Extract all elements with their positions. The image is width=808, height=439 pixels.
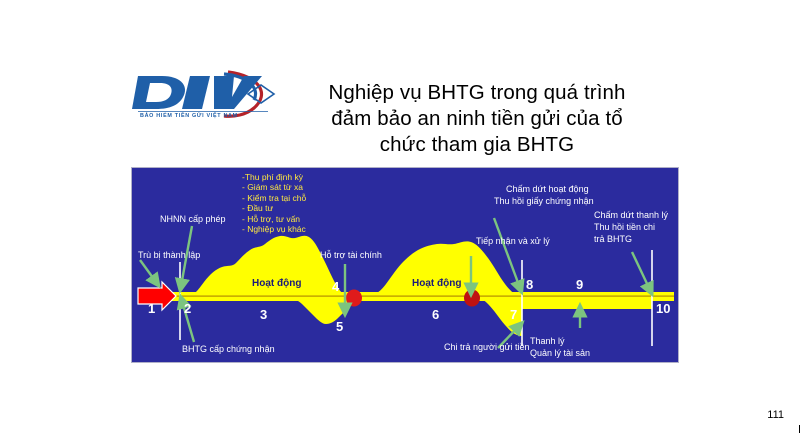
slide-title: Nghiệp vụ BHTG trong quá trình đảm bảo a…	[272, 80, 682, 158]
event-marker-7	[464, 290, 480, 307]
arrow-tru-bi	[140, 260, 156, 282]
slide-title-line-2: đảm bảo an ninh tiền gửi của tổ	[272, 106, 682, 132]
phase-label-hoat-dong-2: Hoạt động	[412, 278, 461, 289]
label-tra-bhtg: trả BHTG	[594, 234, 632, 245]
bullet-item-5: - Hỗ trợ, tư vấn	[242, 214, 306, 224]
footer-tick-mark	[799, 425, 800, 433]
process-diagram: -Thu phí định kỳ - Giám sát từ xa - Kiểm…	[131, 167, 679, 363]
div-logo-svg: BẢO HIỂM TIỀN GỬI VIỆT NAM	[128, 68, 280, 120]
bullet-item-3: - Kiểm tra tại chỗ	[242, 193, 306, 203]
diagram-graphics	[132, 168, 678, 362]
step-number-10: 10	[656, 302, 670, 315]
page-number: 111	[767, 409, 784, 421]
bullet-item-4: - Đầu tư	[242, 203, 306, 213]
step-number-3: 3	[260, 308, 267, 321]
step-number-7: 7	[510, 308, 517, 321]
timeline-centerline	[168, 296, 674, 297]
label-cham-dut-hoat-dong: Chấm dứt hoạt động	[506, 184, 589, 195]
label-quan-ly-tai-san: Quản lý tài sản	[530, 348, 590, 359]
label-tru-bi-thanh-lap: Trù bị thành lập	[138, 250, 200, 261]
label-nhnn-cap-phep: NHNN cấp phép	[160, 214, 226, 225]
step-number-1: 1	[148, 302, 155, 315]
liquidation-band	[522, 301, 652, 309]
label-chi-tra-nguoi-gui-tien: Chi trả người gửi tiền	[444, 342, 530, 353]
div-logo: BẢO HIỂM TIỀN GỬI VIỆT NAM	[128, 68, 280, 120]
arrow-cham-dut-tl	[632, 252, 650, 290]
phase-label-hoat-dong-1: Hoạt động	[252, 278, 301, 289]
bullet-item-2: - Giám sát từ xa	[242, 182, 306, 192]
logo-tagline: BẢO HIỂM TIỀN GỬI VIỆT NAM	[140, 111, 238, 119]
label-tiep-nhan-va-xu-ly: Tiếp nhận và xử lý	[476, 236, 550, 247]
label-bhtg-cap-chung-nhan: BHTG cấp chứng nhận	[182, 344, 275, 355]
diagram-canvas: -Thu phí định kỳ - Giám sát từ xa - Kiểm…	[132, 168, 678, 362]
step-number-2: 2	[184, 302, 191, 315]
step-number-5: 5	[336, 320, 343, 333]
step-number-6: 6	[432, 308, 439, 321]
logo-letter-i	[182, 76, 210, 109]
step-number-4: 4	[332, 280, 339, 293]
event-marker-4	[346, 290, 362, 307]
slide-title-line-3: chức tham gia BHTG	[272, 132, 682, 158]
label-thanh-ly: Thanh lý	[530, 336, 565, 347]
slide-title-line-1: Nghiệp vụ BHTG trong quá trình	[272, 80, 682, 106]
step-number-8: 8	[526, 278, 533, 291]
label-thu-hoi-giay-chung-nhan: Thu hồi giấy chứng nhận	[494, 196, 594, 207]
bullet-list: -Thu phí định kỳ - Giám sát từ xa - Kiểm…	[242, 172, 306, 234]
slide-header: BẢO HIỂM TIỀN GỬI VIỆT NAM Nghiệp vụ BHT…	[0, 0, 808, 170]
bullet-item-1: -Thu phí định kỳ	[242, 172, 306, 182]
label-thu-hoi-tien-chi: Thu hồi tiền chi	[594, 222, 655, 233]
bullet-item-6: - Nghiệp vụ khác	[242, 224, 306, 234]
label-cham-dut-thanh-ly: Chấm dứt thanh lý	[594, 210, 668, 221]
start-arrow-icon	[138, 282, 176, 310]
label-ho-tro-tai-chinh: Hỗ trợ tài chính	[320, 250, 382, 261]
step-number-9: 9	[576, 278, 583, 291]
